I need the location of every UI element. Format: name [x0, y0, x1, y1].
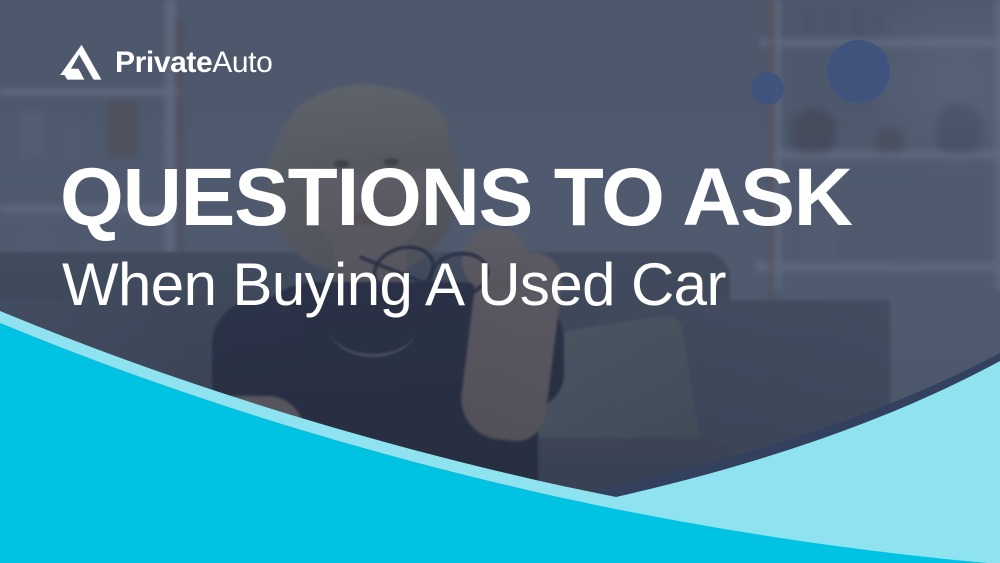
blog-hero-banner: PrivateAuto QUESTIONS TO ASK When Buying…: [0, 0, 1000, 563]
logo-word-auto: Auto: [212, 46, 272, 79]
logo-word-private: Private: [115, 46, 212, 79]
logo-wordmark: PrivateAuto: [115, 48, 272, 78]
privateauto-logo[interactable]: PrivateAuto: [58, 44, 272, 82]
page-subtitle: When Buying A Used Car: [62, 254, 940, 315]
decorative-circle-small: [751, 72, 784, 105]
hero-text-block: QUESTIONS TO ASK When Buying A Used Car: [60, 158, 940, 316]
privateauto-triangle-mark: [58, 44, 102, 82]
page-title: QUESTIONS TO ASK: [60, 158, 940, 238]
decorative-circle-large: [827, 40, 890, 103]
